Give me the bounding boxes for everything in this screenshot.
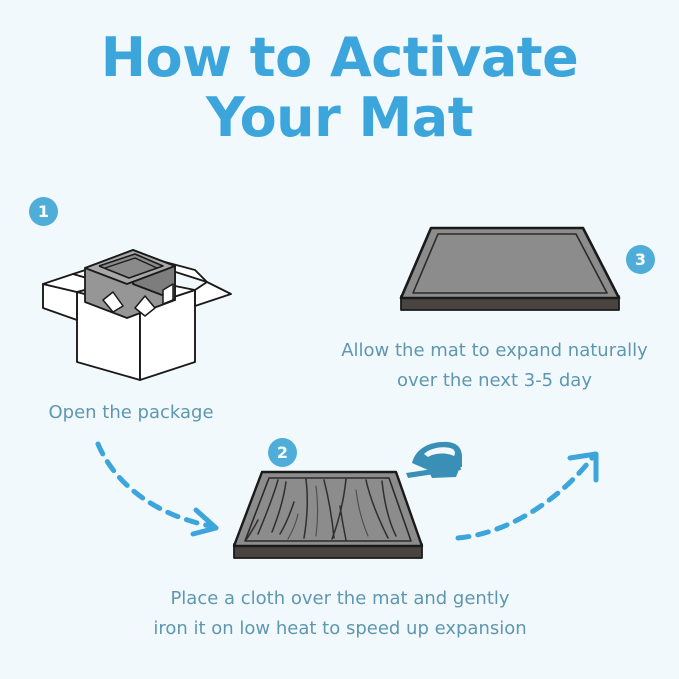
flat-mat-illustration	[395, 220, 625, 320]
arrow-step1-to-step2-icon	[92, 438, 247, 543]
arrow-step2-to-step3-icon	[452, 442, 617, 547]
step-1-caption: Open the package	[0, 398, 262, 428]
step-badge-3: 3	[626, 245, 655, 274]
title-line-1: How to Activate	[0, 28, 679, 88]
step-2-caption: Place a cloth over the mat and gently ir…	[110, 584, 570, 644]
infographic-canvas: How to Activate Your Mat 1	[0, 0, 679, 679]
step-3-caption-line-1: Allow the mat to expand naturally	[310, 336, 679, 366]
open-box-illustration	[35, 222, 235, 387]
step-2-caption-line-2: iron it on low heat to speed up expansio…	[110, 614, 570, 644]
box-icon	[35, 222, 235, 387]
title-line-2: Your Mat	[0, 88, 679, 148]
page-title: How to Activate Your Mat	[0, 28, 679, 149]
flat-mat-icon	[395, 220, 625, 320]
step-3-caption: Allow the mat to expand naturally over t…	[310, 336, 679, 396]
step-2-caption-line-1: Place a cloth over the mat and gently	[110, 584, 570, 614]
step-3-caption-line-2: over the next 3-5 day	[310, 366, 679, 396]
